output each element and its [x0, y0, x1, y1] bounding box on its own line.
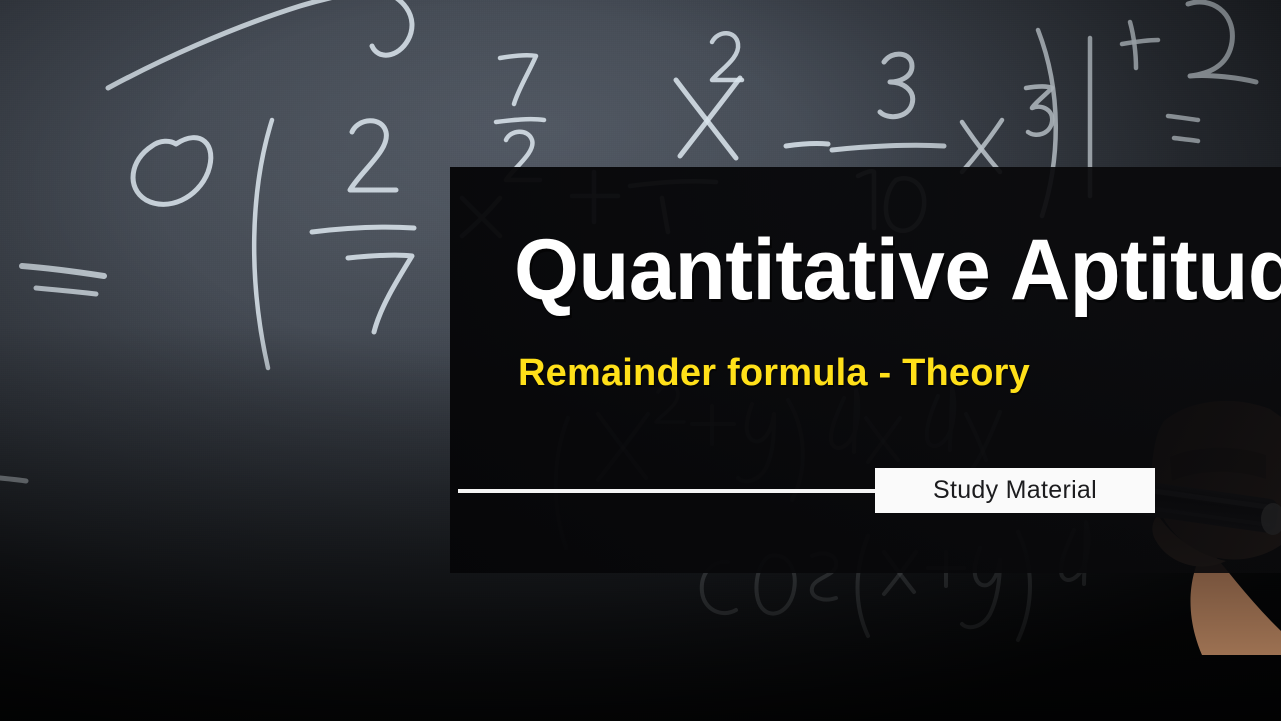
study-material-badge-label: Study Material — [933, 476, 1097, 505]
poster-canvas: Quantitative Aptitude Remainder formula … — [0, 0, 1281, 721]
page-title: Quantitative Aptitude — [514, 222, 1232, 318]
divider-rule — [458, 489, 883, 493]
study-material-badge: Study Material — [875, 468, 1155, 513]
page-subtitle: Remainder formula - Theory — [518, 351, 1030, 395]
